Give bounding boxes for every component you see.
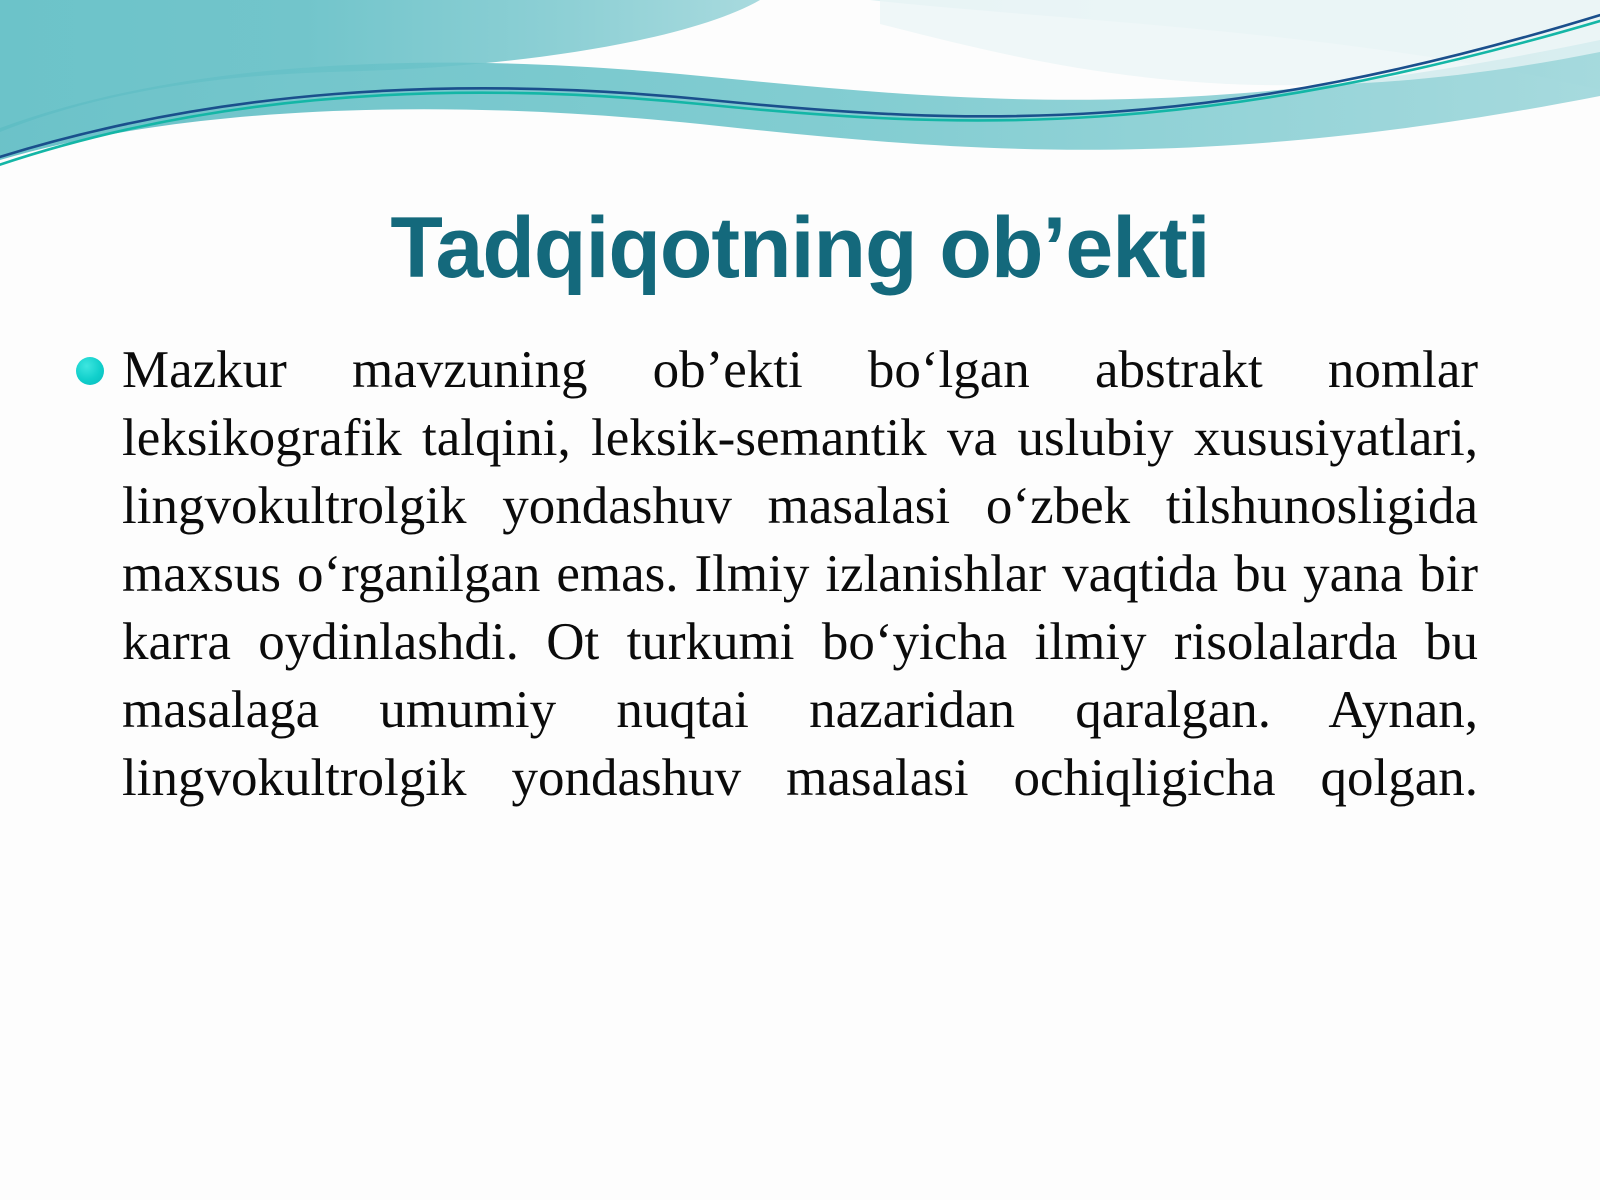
- slide-body: Mazkur mavzuning ob’ekti bo‘lgan abstrak…: [66, 336, 1478, 880]
- wave-header-graphic: [0, 0, 1600, 200]
- bullet-list-item: Mazkur mavzuning ob’ekti bo‘lgan abstrak…: [66, 336, 1478, 880]
- bullet-paragraph-text: Mazkur mavzuning ob’ekti bo‘lgan abstrak…: [122, 336, 1478, 880]
- bullet-circle-icon: [76, 357, 104, 385]
- slide-title: Tadqiqotning ob’ekti: [0, 196, 1600, 300]
- presentation-slide: Tadqiqotning ob’ekti Mazkur mavzuning ob…: [0, 0, 1600, 1200]
